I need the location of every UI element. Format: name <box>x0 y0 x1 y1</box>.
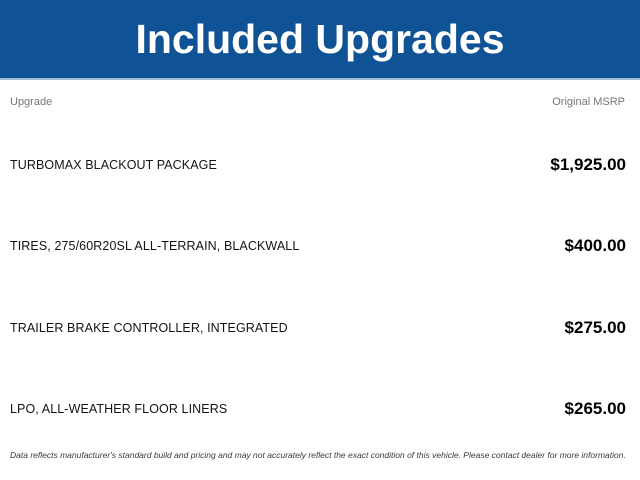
page-title: Included Upgrades <box>135 19 504 60</box>
included-upgrades-panel: Included Upgrades Upgrade Original MSRP … <box>0 0 640 480</box>
upgrade-price: $275.00 <box>565 318 626 338</box>
column-header-upgrade: Upgrade <box>10 96 552 108</box>
upgrade-price: $1,925.00 <box>550 155 626 175</box>
upgrade-name: TRAILER BRAKE CONTROLLER, INTEGRATED <box>10 321 565 335</box>
disclaimer-text: Data reflects manufacturer's standard bu… <box>0 450 640 480</box>
column-header-original-msrp: Original MSRP <box>552 96 626 108</box>
upgrade-name: TURBOMAX BLACKOUT PACKAGE <box>10 158 550 172</box>
table-body: TURBOMAX BLACKOUT PACKAGE $1,925.00 TIRE… <box>10 124 626 450</box>
upgrade-name: LPO, ALL-WEATHER FLOOR LINERS <box>10 402 565 416</box>
upgrades-table: Upgrade Original MSRP TURBOMAX BLACKOUT … <box>0 80 640 450</box>
table-header-row: Upgrade Original MSRP <box>10 80 626 124</box>
table-row: TIRES, 275/60R20SL ALL-TERRAIN, BLACKWAL… <box>10 205 626 286</box>
upgrade-price: $400.00 <box>565 236 626 256</box>
table-row: LPO, ALL-WEATHER FLOOR LINERS $265.00 <box>10 368 626 449</box>
upgrade-price: $265.00 <box>565 399 626 419</box>
upgrade-name: TIRES, 275/60R20SL ALL-TERRAIN, BLACKWAL… <box>10 239 565 253</box>
table-row: TURBOMAX BLACKOUT PACKAGE $1,925.00 <box>10 124 626 205</box>
table-row: TRAILER BRAKE CONTROLLER, INTEGRATED $27… <box>10 287 626 368</box>
page-header: Included Upgrades <box>0 0 640 78</box>
